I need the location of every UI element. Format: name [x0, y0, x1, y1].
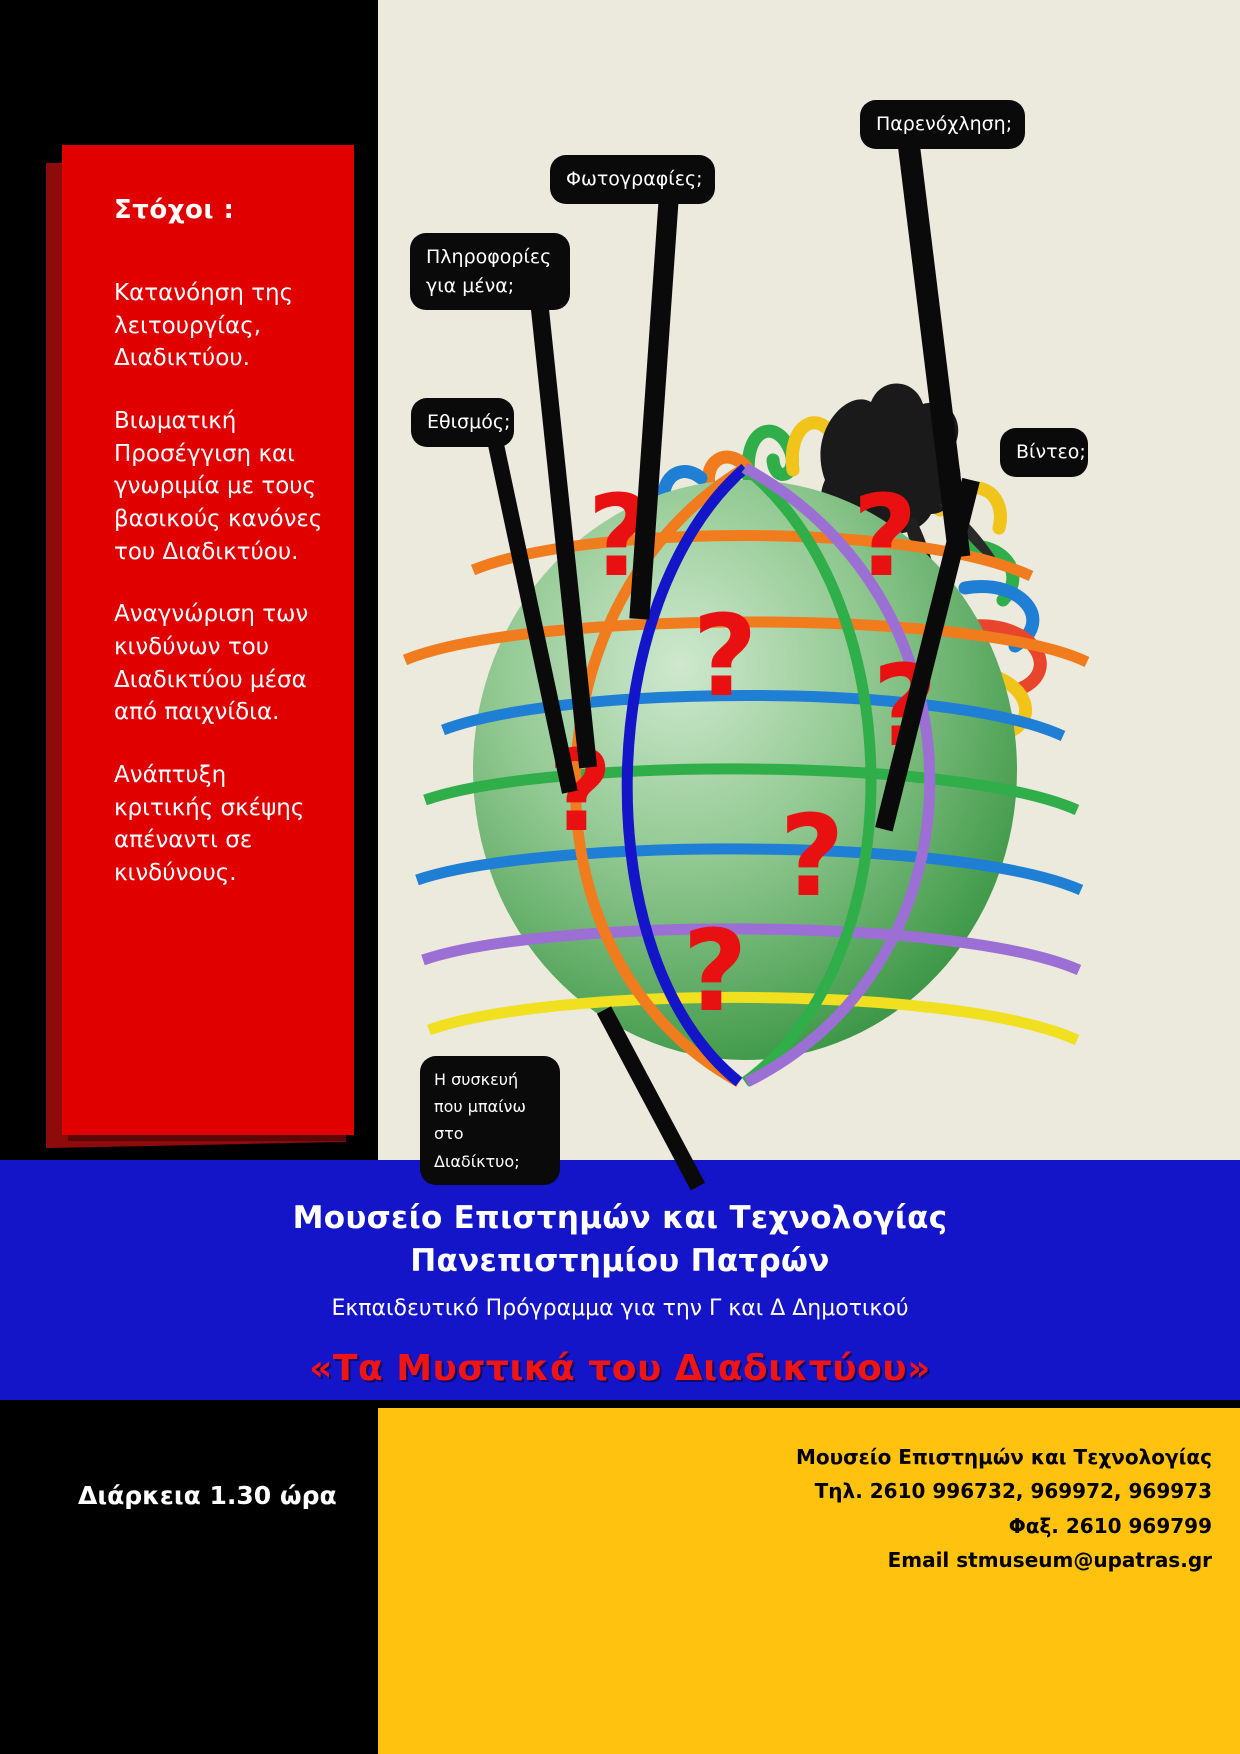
bubble-video[interactable]: Βίντεο;: [1000, 428, 1088, 477]
question-mark-icon: ?: [683, 907, 748, 1037]
bubble-photos[interactable]: Φωτογραφίες;: [550, 155, 715, 204]
objective-item-1: Κατανόηση της λειτουργίας, Διαδικτύου.: [114, 277, 324, 375]
poster-root: Στόχοι : Κατανόηση της λειτουργίας, Διαδ…: [0, 0, 1240, 1754]
question-mark-icon: ?: [853, 472, 918, 602]
objectives-title: Στόχοι :: [114, 195, 324, 225]
duration-label: Διάρκεια 1.30 ώρα: [78, 1481, 337, 1510]
contact-line-museum: Μουσείο Επιστημών και Τεχνολογίας: [796, 1440, 1212, 1474]
contact-line-fax: Φαξ. 2610 969799: [796, 1509, 1212, 1543]
contact-line-email[interactable]: Email stmuseum@upatras.gr: [796, 1543, 1212, 1577]
bubble-label-video: Βίντεο;: [1016, 441, 1086, 463]
bubble-label-info-about-me: Πληροφορίες για μένα;: [426, 246, 551, 297]
bubble-label-device: Η συσκευή που μπαίνω στο Διαδίκτυο;: [434, 1070, 526, 1171]
bubble-label-photos: Φωτογραφίες;: [566, 168, 703, 190]
program-title: «Τα Μυστικά του Διαδικτύου»: [0, 1348, 1240, 1389]
question-mark-icon: ?: [693, 592, 758, 722]
bubble-harassment[interactable]: Παρενόχληση;: [860, 100, 1025, 149]
objectives-panel: Στόχοι : Κατανόηση της λειτουργίας, Διαδ…: [62, 145, 354, 1135]
contact-block: Μουσείο Επιστημών και Τεχνολογίας Τηλ. 2…: [796, 1440, 1212, 1578]
contact-line-phone: Τηλ. 2610 996732, 969972, 969973: [796, 1474, 1212, 1508]
objective-item-4: Ανάπτυξη κριτικής σκέψης απέναντι σε κιν…: [114, 759, 324, 890]
bubble-device[interactable]: Η συσκευή που μπαίνω στο Διαδίκτυο;: [420, 1056, 560, 1185]
bubble-info-about-me[interactable]: Πληροφορίες για μένα;: [410, 233, 570, 310]
bubble-label-harassment: Παρενόχληση;: [876, 113, 1012, 135]
objective-item-2: Βιωματική Προσέγγιση και γνωριμία με του…: [114, 405, 324, 568]
globe-illustration: ? ? ? ? ? ? ?: [395, 270, 1095, 1100]
museum-name-line2: Πανεπιστημίου Πατρών: [0, 1243, 1240, 1279]
museum-name-line1: Μουσείο Επιστημών και Τεχνολογίας: [0, 1200, 1240, 1236]
objective-item-3: Αναγνώριση των κινδύνων του Διαδικτύου μ…: [114, 598, 324, 729]
bubble-addiction[interactable]: Εθισμός;: [411, 398, 514, 447]
question-mark-icon: ?: [780, 792, 845, 922]
bubble-label-addiction: Εθισμός;: [427, 411, 510, 433]
program-subtitle: Εκπαιδευτικό Πρόγραμμα για την Γ και Δ Δ…: [0, 1296, 1240, 1321]
